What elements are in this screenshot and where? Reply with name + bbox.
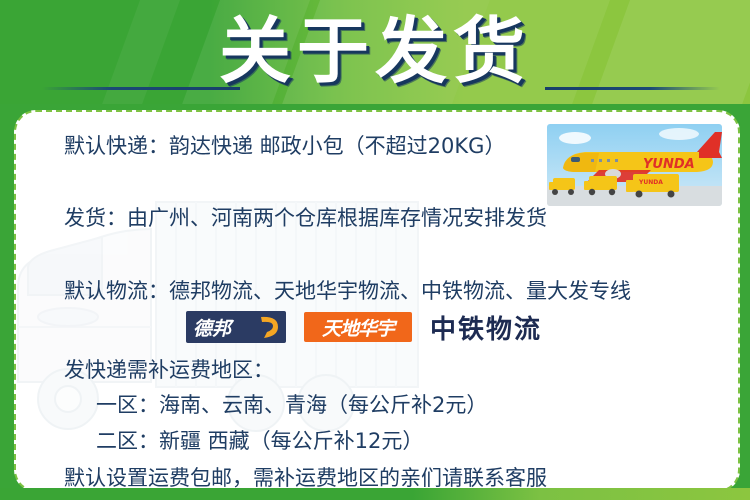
- default-logistics-line: 默认物流：德邦物流、天地华宇物流、中铁物流、量大发专线: [64, 275, 631, 305]
- svg-text:YUNDA: YUNDA: [638, 179, 663, 186]
- surcharge-heading: 发快递需补运费地区：: [64, 354, 274, 384]
- tiandihuayu-logo: 天地华宇: [304, 312, 412, 342]
- deppon-logo-label: 德邦: [186, 314, 231, 341]
- tiandihuayu-logo-label: 天地华宇: [322, 314, 394, 341]
- zhongtie-logo: 中铁物流: [430, 309, 542, 346]
- yunda-plane-image: YUNDA: [547, 124, 722, 206]
- content-card: YUNDA: [14, 110, 740, 492]
- zone-one-line: 一区：海南、云南、青海（每公斤补2元）: [96, 389, 487, 419]
- shipping-info-banner: 关于发货: [0, 0, 750, 500]
- banner-header: 关于发货: [0, 0, 750, 104]
- deppon-arrow-icon: [258, 314, 282, 340]
- logistics-logo-row: 德邦 天地华宇 中铁物流: [186, 310, 542, 344]
- default-express-line: 默认快递：韵达快递 邮政小包（不超过20KG）: [64, 130, 505, 160]
- deppon-logo: 德邦: [186, 311, 286, 343]
- page-title: 关于发货: [0, 5, 750, 97]
- svg-text:YUNDA: YUNDA: [643, 157, 695, 172]
- zone-two-line: 二区：新疆 西藏（每公斤补12元）: [96, 425, 423, 455]
- footer-note-line: 默认设置运费包邮，需补运费地区的亲们请联系客服: [64, 462, 547, 490]
- warehouse-shipping-line: 发货：由广州、河南两个仓库根据库存情况安排发货: [64, 202, 547, 232]
- footer-accent-strip: [0, 488, 750, 500]
